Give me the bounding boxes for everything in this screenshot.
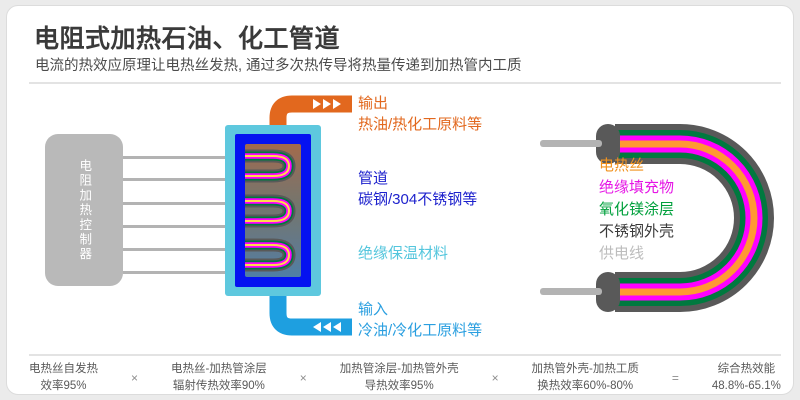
label-pipe: 管道 碳钢/304不锈钢等 <box>358 169 477 210</box>
formula-result-line1: 综合热效能 <box>712 361 781 378</box>
formula-term-line1: 加热管外壳-加热工质 <box>532 361 639 378</box>
input-arrow-group <box>313 322 341 332</box>
triangle-right-icon <box>333 99 341 109</box>
formula-term-line2: 效率95% <box>29 378 98 395</box>
formula-result-line2: 48.8%-65.1% <box>712 378 781 395</box>
page-subtitle: 电流的热效应原理让电热丝发热, 通过多次热传导将热量传递到加热管内工质 <box>35 54 522 75</box>
formula-operator: × <box>129 371 140 385</box>
label-output: 输出 热油/热化工原料等 <box>358 94 482 135</box>
power-wire <box>123 178 237 181</box>
power-wire <box>123 271 237 274</box>
formula-term: 电热丝自发热 效率95% <box>29 361 98 394</box>
heating-controller-box: 电阻加热控制器 <box>45 134 123 286</box>
label-output-title: 输出 <box>358 94 482 115</box>
power-wire <box>123 156 237 159</box>
header-divider <box>29 82 781 84</box>
label-input: 输入 冷油/冷化工原料等 <box>358 300 482 341</box>
efficiency-formula: 电热丝自发热 效率95% × 电热丝-加热管涂层 辐射传热效率90% × 加热管… <box>29 358 781 398</box>
legend-item-mgo-coating: 氧化镁涂层 <box>599 198 674 219</box>
formula-operator: × <box>490 371 501 385</box>
supply-wire-group <box>540 140 602 295</box>
legend-item-insulation-filler: 绝缘填充物 <box>599 176 674 197</box>
formula-term-line1: 电热丝自发热 <box>29 361 98 378</box>
output-arrow-group <box>313 99 341 109</box>
formula-term: 加热管外壳-加热工质 换热效率60%-80% <box>532 361 639 394</box>
heating-coil-group <box>245 144 303 277</box>
legend-item-heating-wire: 电热丝 <box>599 154 644 175</box>
label-insulation-title: 绝缘保温材料 <box>358 244 448 265</box>
heating-controller-label: 电阻加热控制器 <box>45 134 123 286</box>
triangle-left-icon <box>323 322 331 332</box>
page-title: 电阻式加热石油、化工管道 <box>34 19 340 55</box>
label-input-title: 输入 <box>358 300 482 321</box>
formula-operator: = <box>670 371 681 385</box>
formula-term-line1: 加热管涂层-加热管外壳 <box>340 361 459 378</box>
triangle-right-icon <box>313 99 321 109</box>
label-insulation: 绝缘保温材料 <box>358 244 448 265</box>
formula-term-line1: 电热丝-加热管涂层 <box>171 361 267 378</box>
formula-result: 综合热效能 48.8%-65.1% <box>712 361 781 394</box>
formula-term-line2: 换热效率60%-80% <box>532 378 639 395</box>
triangle-right-icon <box>323 99 331 109</box>
legend-item-supply-wire: 供电线 <box>599 242 644 263</box>
label-pipe-detail: 碳钢/304不锈钢等 <box>358 190 477 211</box>
label-output-detail: 热油/热化工原料等 <box>358 115 482 136</box>
formula-term: 加热管涂层-加热管外壳 导热效率95% <box>340 361 459 394</box>
diagram-root: 电阻式加热石油、化工管道 电流的热效应原理让电热丝发热, 通过多次热传导将热量传… <box>0 0 800 400</box>
label-pipe-title: 管道 <box>358 169 477 190</box>
formula-term-line2: 辐射传热效率90% <box>171 378 267 395</box>
triangle-left-icon <box>313 322 321 332</box>
power-wire <box>123 225 237 228</box>
legend-item-stainless-shell: 不锈钢外壳 <box>599 220 674 241</box>
label-input-detail: 冷油/冷化工原料等 <box>358 321 482 342</box>
triangle-left-icon <box>333 322 341 332</box>
power-wire <box>123 248 237 251</box>
power-wire <box>123 202 237 205</box>
footer-divider <box>29 354 781 356</box>
formula-operator: × <box>298 371 309 385</box>
formula-term: 电热丝-加热管涂层 辐射传热效率90% <box>171 361 267 394</box>
formula-term-line2: 导热效率95% <box>340 378 459 395</box>
main-card: 电阻式加热石油、化工管道 电流的热效应原理让电热丝发热, 通过多次热传导将热量传… <box>6 5 794 395</box>
